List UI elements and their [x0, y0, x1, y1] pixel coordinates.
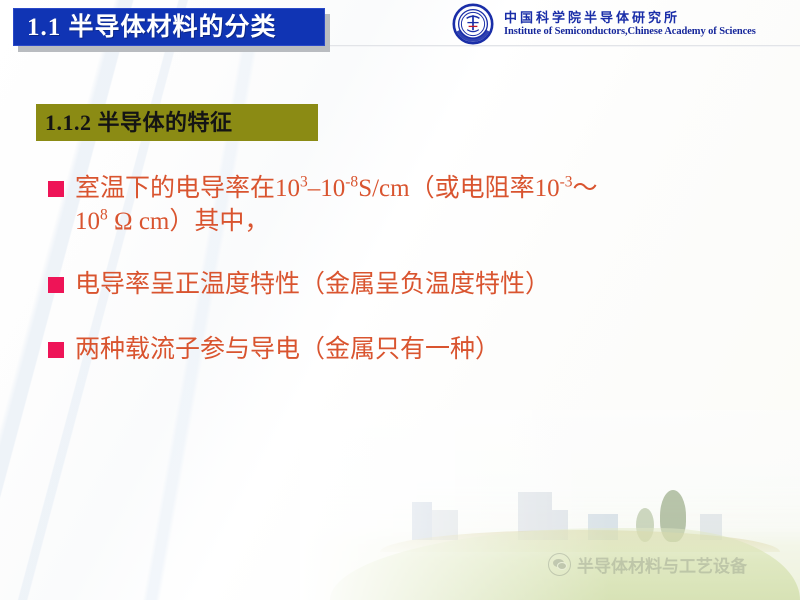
organization-name-en: Institute of Semiconductors,Chinese Acad… [504, 26, 756, 38]
organization-names: 中国科学院半导体研究所 Institute of Semiconductors,… [504, 10, 756, 38]
list-item-text: 两种载流子参与导电（金属只有一种） [75, 333, 500, 366]
organization-name-cn: 中国科学院半导体研究所 [504, 11, 756, 25]
watermark-text: 半导体材料与工艺设备 [577, 552, 747, 577]
list-item-text: 室温下的电导率在103–10-8S/cm（或电阻率10-3～108 Ω cm）其… [75, 172, 598, 238]
institute-emblem-icon [452, 3, 494, 45]
list-item-text: 电导率呈正温度特性（金属呈负温度特性） [75, 268, 550, 301]
header-divider-line-light [330, 46, 800, 47]
bullet-list: 室温下的电导率在103–10-8S/cm（或电阻率10-3～108 Ω cm）其… [48, 172, 764, 392]
square-bullet-icon [48, 277, 64, 293]
slide-canvas: 1.1 半导体材料的分类 中国科学院半导体研究所 Institute of Se… [0, 0, 800, 600]
square-bullet-icon [48, 181, 64, 197]
organization-header: 中国科学院半导体研究所 Institute of Semiconductors,… [452, 2, 800, 46]
square-bullet-icon [48, 342, 64, 358]
section-subtitle: 1.1.2 半导体的特征 [45, 112, 233, 134]
wechat-bubble-icon [548, 553, 571, 576]
list-item: 两种载流子参与导电（金属只有一种） [48, 333, 764, 366]
list-item: 室温下的电导率在103–10-8S/cm（或电阻率10-3～108 Ω cm）其… [48, 172, 764, 238]
page-title-box: 1.1 半导体材料的分类 [13, 8, 325, 46]
page-title: 1.1 半导体材料的分类 [27, 15, 277, 40]
section-subtitle-box: 1.1.2 半导体的特征 [36, 104, 318, 141]
watermark: 半导体材料与工艺设备 [548, 552, 747, 577]
list-item: 电导率呈正温度特性（金属呈负温度特性） [48, 268, 764, 301]
